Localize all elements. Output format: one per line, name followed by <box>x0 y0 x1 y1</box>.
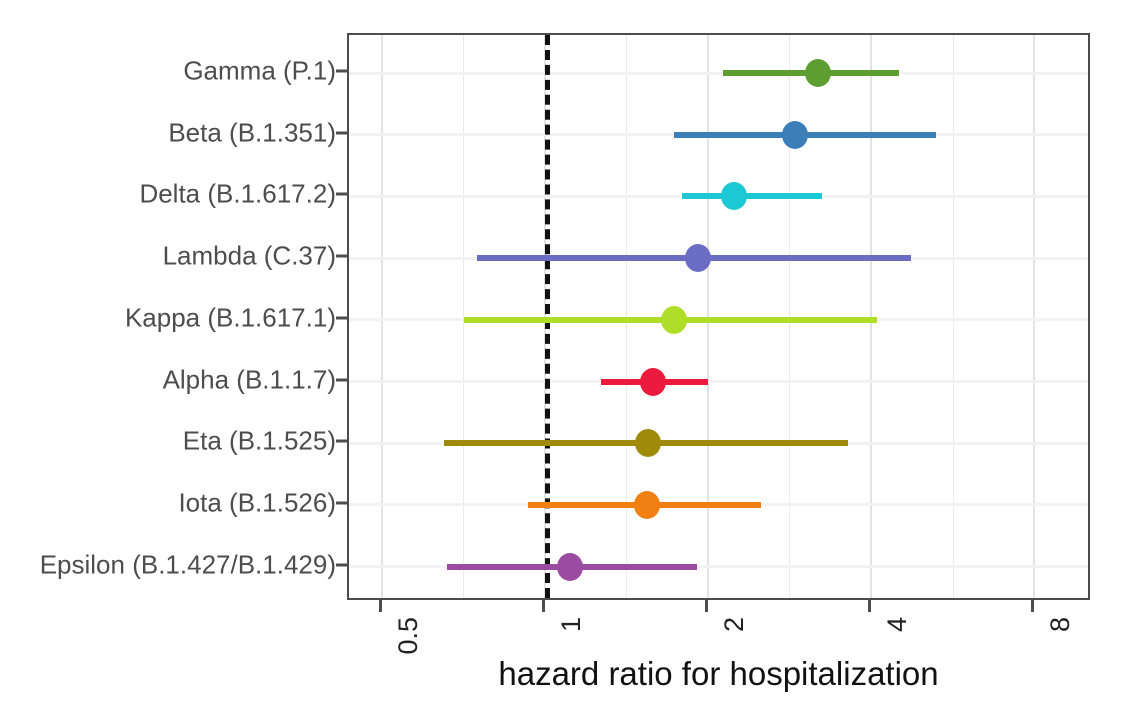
y-axis-tick-label: Alpha (B.1.1.7) <box>0 364 336 395</box>
y-axis-tick-mark <box>336 501 347 504</box>
x-axis-tick-label: 1 <box>556 617 587 632</box>
y-axis-tick-label: Gamma (P.1) <box>0 56 336 87</box>
point-estimate-marker[interactable] <box>661 306 687 334</box>
confidence-interval-bar <box>682 193 822 199</box>
x-axis-tick-label: 0.5 <box>393 617 424 655</box>
point-estimate-marker[interactable] <box>640 368 666 396</box>
point-estimate-marker[interactable] <box>634 491 660 519</box>
y-axis-tick-mark <box>336 131 347 134</box>
y-axis-tick-label: Beta (B.1.351) <box>0 117 336 148</box>
point-estimate-marker[interactable] <box>805 59 831 87</box>
y-axis-tick-label: Epsilon (B.1.427/B.1.429) <box>0 549 336 580</box>
point-estimate-marker[interactable] <box>557 553 583 581</box>
y-axis-tick-mark <box>336 440 347 443</box>
y-axis-tick-label: Delta (B.1.617.2) <box>0 179 336 210</box>
x-axis-title: hazard ratio for hospitalization <box>347 655 1090 693</box>
x-axis-tick-label: 8 <box>1045 617 1076 632</box>
y-axis-tick-label: Kappa (B.1.617.1) <box>0 302 336 333</box>
x-axis-tick-mark <box>705 600 708 612</box>
point-estimate-marker[interactable] <box>635 429 661 457</box>
point-estimate-marker[interactable] <box>782 121 808 149</box>
gridline-row <box>349 380 1088 383</box>
x-axis-tick-label: 4 <box>882 617 913 632</box>
y-axis-tick-mark <box>336 193 347 196</box>
y-axis-tick-mark <box>336 378 347 381</box>
gridline-minor <box>953 35 954 598</box>
point-estimate-marker[interactable] <box>721 182 747 210</box>
x-axis-tick-mark <box>379 600 382 612</box>
x-axis-tick-mark <box>868 600 871 612</box>
y-axis-tick-mark <box>336 563 347 566</box>
y-axis-tick-label: Lambda (C.37) <box>0 241 336 272</box>
x-axis-tick-mark <box>1031 600 1034 612</box>
y-axis-tick-label: Iota (B.1.526) <box>0 487 336 518</box>
gridline-row <box>349 72 1088 75</box>
x-axis-tick-label: 2 <box>719 617 750 632</box>
x-axis-tick-mark <box>542 600 545 612</box>
gridline-major-0.5 <box>381 35 383 598</box>
y-axis-tick-label: Eta (B.1.525) <box>0 426 336 457</box>
gridline-major-8 <box>1033 35 1035 598</box>
y-axis-tick-mark <box>336 70 347 73</box>
forest-plot-figure: Gamma (P.1)Beta (B.1.351)Delta (B.1.617.… <box>0 0 1128 722</box>
plot-panel <box>347 33 1090 600</box>
y-axis-tick-mark <box>336 316 347 319</box>
y-axis-tick-mark <box>336 255 347 258</box>
